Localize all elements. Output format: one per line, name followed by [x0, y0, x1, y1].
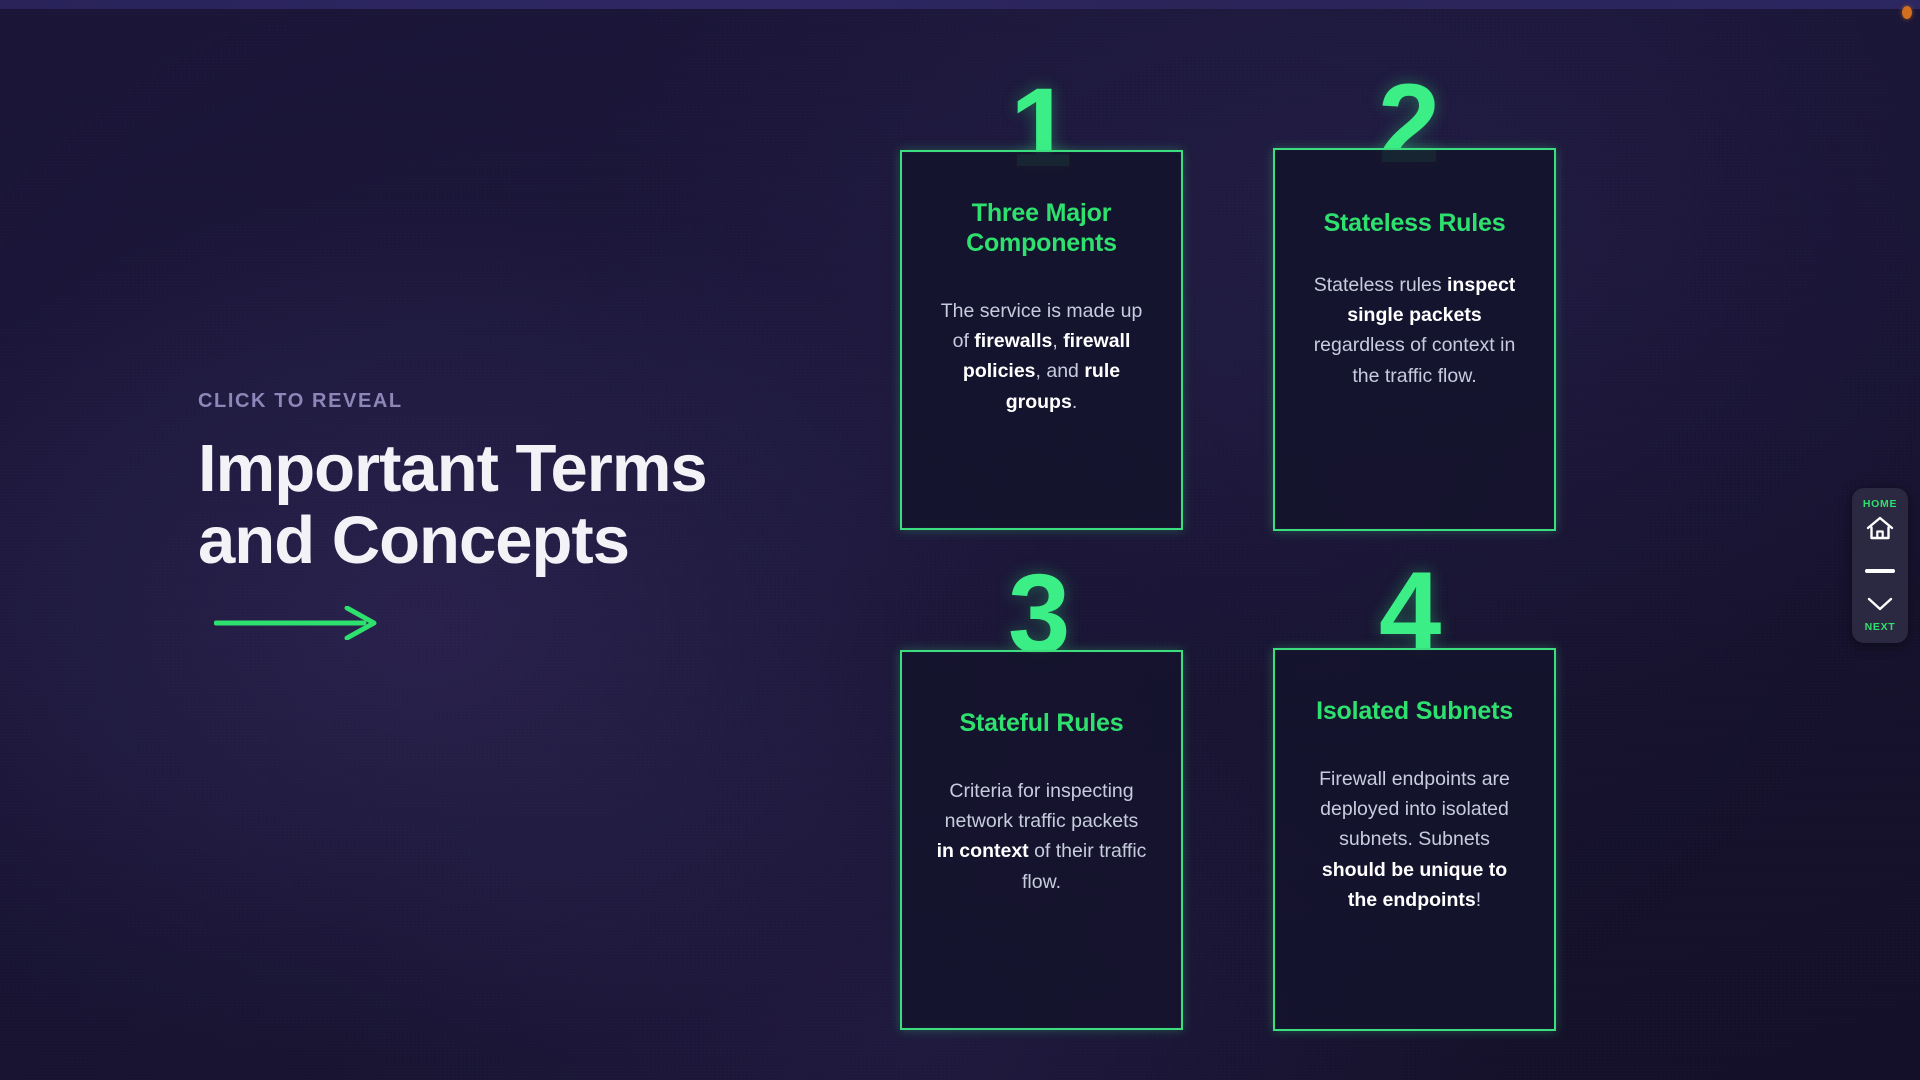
slide-navigation-widget[interactable]: HOME NEXT — [1852, 488, 1908, 643]
divider-bar — [1865, 569, 1895, 573]
card-body: Stateless rules inspect single packets r… — [1309, 270, 1520, 391]
home-button[interactable]: HOME — [1863, 498, 1897, 546]
next-label: NEXT — [1865, 621, 1896, 633]
arrow-right-icon[interactable] — [214, 606, 384, 640]
card-title: Isolated Subnets — [1309, 696, 1520, 726]
card-title: Stateless Rules — [1309, 208, 1520, 238]
concept-card-1[interactable]: Three Major Components The service is ma… — [900, 150, 1183, 530]
card-body: The service is made up of firewalls, fir… — [936, 296, 1147, 417]
top-progress-bar — [0, 0, 1920, 9]
next-button[interactable]: NEXT — [1865, 595, 1896, 633]
status-dot — [1902, 6, 1912, 19]
card-title: Three Major Components — [936, 198, 1147, 258]
concept-card-3[interactable]: Stateful Rules Criteria for inspecting n… — [900, 650, 1183, 1030]
eyebrow-label: CLICK TO REVEAL — [198, 390, 838, 413]
presentation-slide: CLICK TO REVEAL Important Terms and Conc… — [0, 0, 1920, 1080]
card-body: Firewall endpoints are deployed into iso… — [1309, 764, 1520, 915]
chevron-down-icon[interactable] — [1865, 595, 1895, 618]
page-title: Important Terms and Concepts — [198, 433, 818, 578]
card-title: Stateful Rules — [936, 708, 1147, 738]
card-body: Criteria for inspecting network traffic … — [936, 776, 1147, 897]
home-label: HOME — [1863, 498, 1897, 510]
page-title-line-2: and Concepts — [198, 503, 629, 578]
concept-card-4[interactable]: Isolated Subnets Firewall endpoints are … — [1273, 648, 1556, 1031]
house-icon[interactable] — [1865, 515, 1895, 546]
page-title-line-1: Important Terms — [198, 431, 707, 506]
hero-block: CLICK TO REVEAL Important Terms and Conc… — [198, 390, 838, 640]
concept-card-2[interactable]: Stateless Rules Stateless rules inspect … — [1273, 148, 1556, 531]
